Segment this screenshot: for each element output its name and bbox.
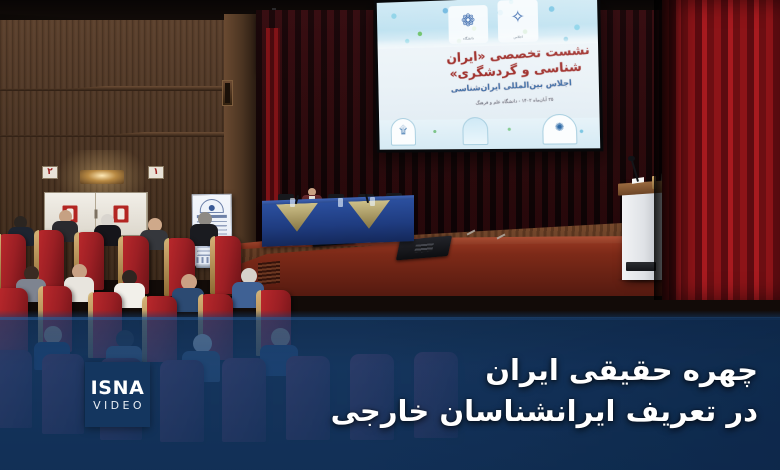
theater-seat: [0, 288, 28, 352]
theater-seat: [222, 358, 266, 442]
water-glass: [338, 198, 343, 207]
isna-video-label: VIDEO: [93, 400, 145, 411]
theater-seat: [160, 360, 204, 442]
theater-seat: [142, 296, 177, 362]
projector-haze: [377, 0, 601, 150]
water-glass: [370, 197, 375, 206]
projection-screen: ❁ دانشگاه ✧ اجلاس نشست تخصصی «ایران شناس…: [377, 0, 601, 150]
headline-line-1: چهره حقیقی ایران: [288, 350, 758, 391]
headline-line-2: در تعریف ایرانشناسان خارجی: [288, 391, 758, 432]
door-number-plate-2: ۲: [42, 166, 58, 179]
isna-wordmark: ISNA: [91, 379, 145, 398]
framed-picture: [222, 80, 233, 106]
podium-front-plate: [626, 262, 656, 271]
wall-light-sconce: [80, 170, 124, 184]
projection-screen-frame: ❁ دانشگاه ✧ اجلاس نشست تخصصی «ایران شناس…: [374, 0, 604, 153]
isna-video-logo[interactable]: ISNA VIDEO: [85, 362, 150, 427]
headline-block: چهره حقیقی ایران در تعریف ایرانشناسان خا…: [288, 350, 758, 432]
theater-seat: [0, 350, 32, 428]
theater-seat: [42, 354, 84, 434]
door-number-plate-1: ۱: [148, 166, 164, 179]
video-thumbnail: ۲ ۱ ❁ دانشگاه ✧ اجلاس نشست تخصصی «ا: [0, 0, 780, 470]
curtain-shadow-edge: [654, 0, 684, 300]
podium-microphone: [628, 156, 635, 161]
